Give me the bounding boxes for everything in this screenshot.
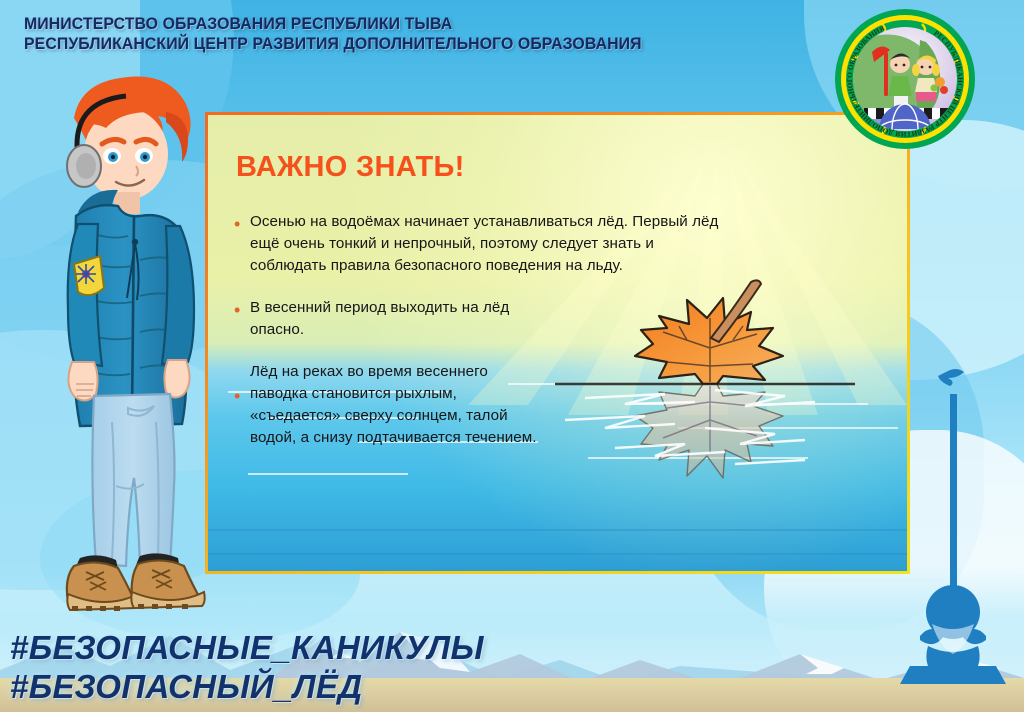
bullet-text: В весенний период выходить на лёд опасно…: [250, 297, 532, 341]
panel-title: ВАЖНО ЗНАТЬ!: [236, 151, 465, 184]
bullet-item: • В весенний период выходить на лёд опас…: [232, 297, 532, 341]
bullet-text: Лёд на реках во время весеннего паводка …: [250, 361, 542, 449]
poster-root: МИНИСТЕРСТВО ОБРАЗОВАНИЯ РЕСПУБЛИКИ ТЫВА…: [0, 0, 1024, 712]
maple-leaf-in-water: [555, 278, 855, 523]
hashtag-block: #БЕЗОПАСНЫЕ_КАНИКУЛЫ #БЕЗОПАСНЫЙ_ЛЁД: [10, 629, 484, 706]
hashtag-1: #БЕЗОПАСНЫЕ_КАНИКУЛЫ: [10, 629, 484, 667]
republican-center-emblem: РЕСПУБЛИКАНСКИЙ ЦЕНТР РАЗВИТИЯ ДОПОЛНИТЕ…: [834, 8, 976, 150]
boy-with-headphones-in-blue-jacket: [16, 66, 246, 611]
obelisk-monument-silhouette: [884, 354, 1024, 684]
header-line-1: МИНИСТЕРСТВО ОБРАЗОВАНИЯ РЕСПУБЛИКИ ТЫВА: [24, 14, 642, 34]
header-line-2: РЕСПУБЛИКАНСКИЙ ЦЕНТР РАЗВИТИЯ ДОПОЛНИТЕ…: [24, 34, 642, 54]
bullet-item: • Осенью на водоёмах начинает устанавлив…: [232, 211, 732, 277]
hashtag-2: #БЕЗОПАСНЫЙ_ЛЁД: [10, 668, 484, 706]
header-block: МИНИСТЕРСТВО ОБРАЗОВАНИЯ РЕСПУБЛИКИ ТЫВА…: [24, 14, 667, 54]
bullet-text: Осенью на водоёмах начинает устанавливат…: [250, 211, 732, 277]
bullet-item: • Лёд на реках во время весеннего паводк…: [232, 361, 542, 449]
